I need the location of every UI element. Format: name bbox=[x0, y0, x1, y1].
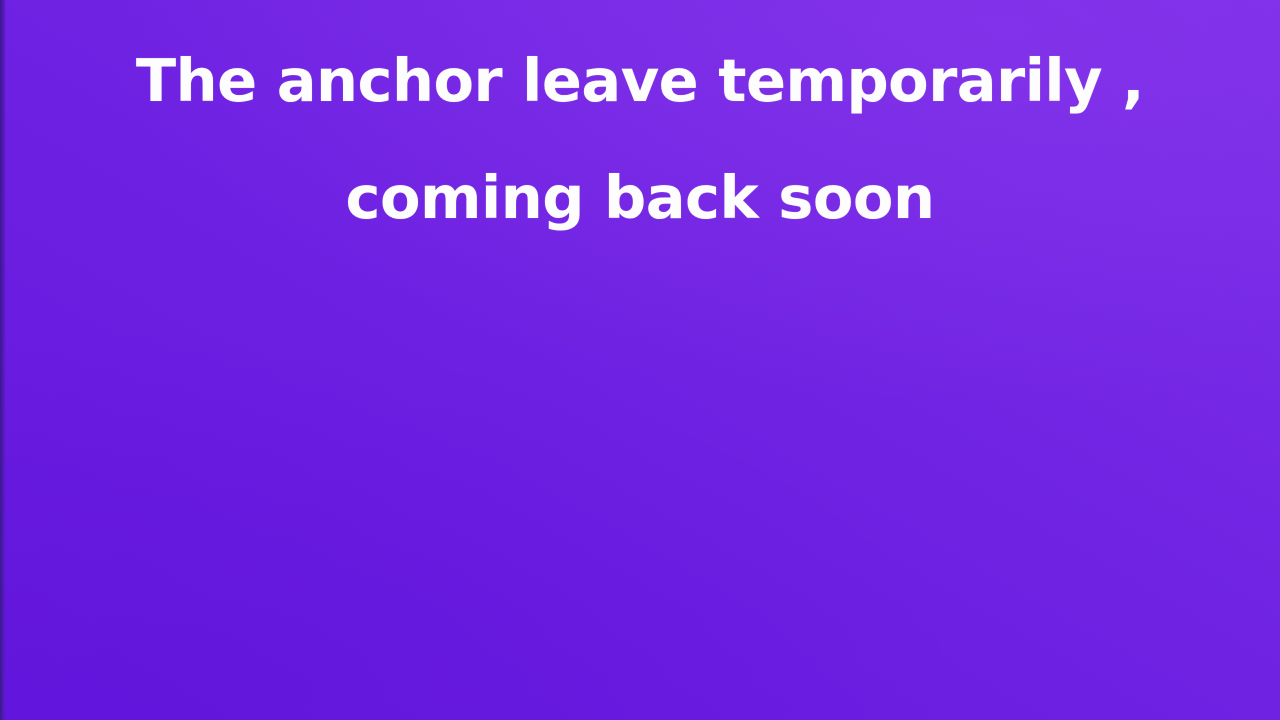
caption-line-1: The anchor leave temporarily , bbox=[0, 22, 1280, 139]
video-frame: The anchor leave temporarily , coming ba… bbox=[0, 0, 1280, 720]
caption-line-2: coming back soon bbox=[0, 139, 1280, 256]
announcement-caption: The anchor leave temporarily , coming ba… bbox=[0, 0, 1280, 256]
